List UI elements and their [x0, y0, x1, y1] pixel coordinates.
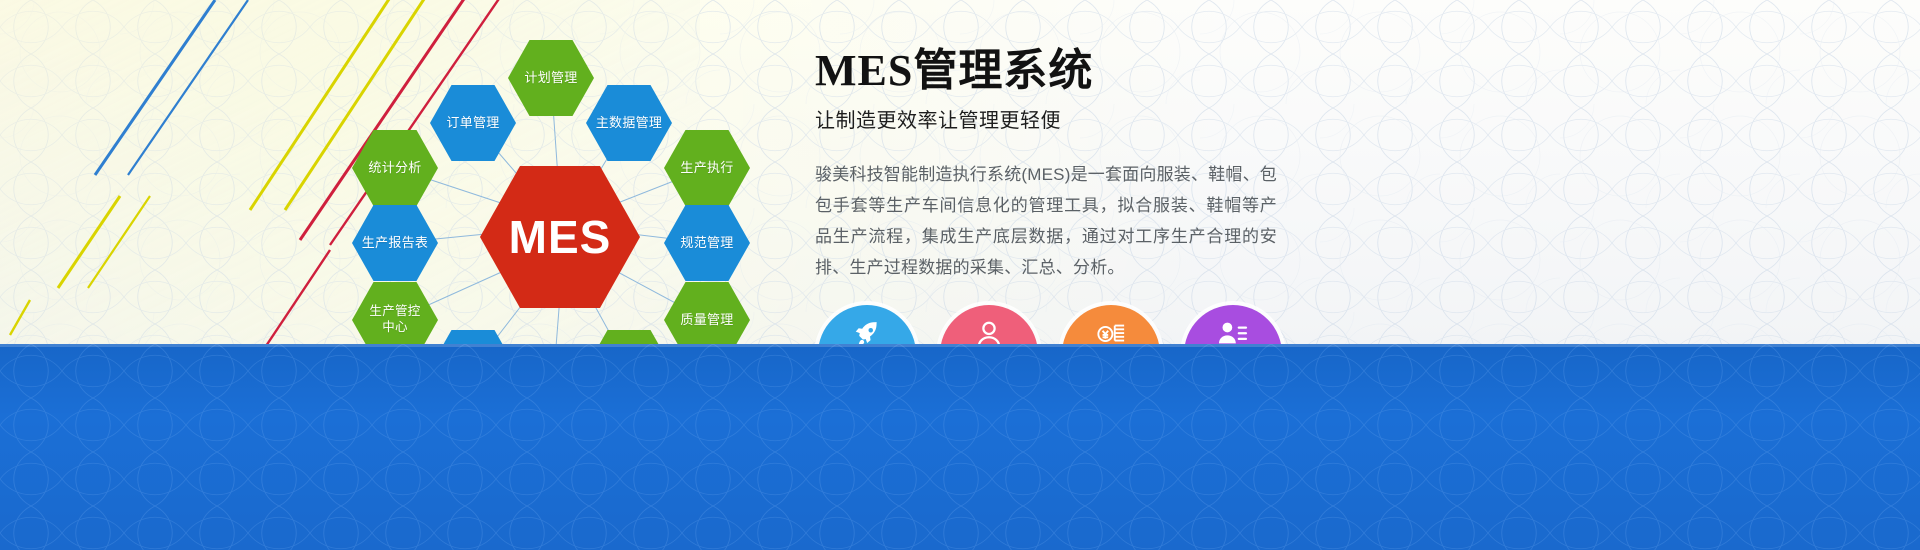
- hex-label: 生产执行: [680, 160, 733, 176]
- banner-text-column: MES管理系统 让制造更效率让管理更轻便 骏美科技智能制造执行系统(MES)是一…: [815, 48, 1715, 283]
- page-subtitle: 让制造更效率让管理更轻便: [815, 104, 1715, 133]
- hex-label: 生产管控中心: [364, 304, 426, 335]
- page-title: MES管理系统: [815, 48, 1715, 94]
- hex-label: 主数据管理: [596, 115, 663, 131]
- hex-label: 订单管理: [446, 115, 499, 131]
- hex-label: 统计分析: [368, 160, 421, 176]
- hex-label: 计划管理: [524, 70, 577, 86]
- page-description: 骏美科技智能制造执行系统(MES)是一套面向服装、鞋帽、包包手套等生产车间信息化…: [815, 159, 1277, 283]
- banner-stage: MES 计划管理 订单管理 主数据管理 统计分析 生产执行 生产报告表 规范管理…: [0, 0, 1920, 550]
- hex-center-label: MES: [509, 210, 612, 264]
- band-top-edge: [0, 344, 1920, 347]
- hex-label: 规范管理: [680, 235, 733, 251]
- hex-label: 质量管理: [680, 312, 733, 328]
- background-pattern-bottom: [0, 344, 1920, 550]
- hex-label: 生产报告表: [362, 235, 429, 251]
